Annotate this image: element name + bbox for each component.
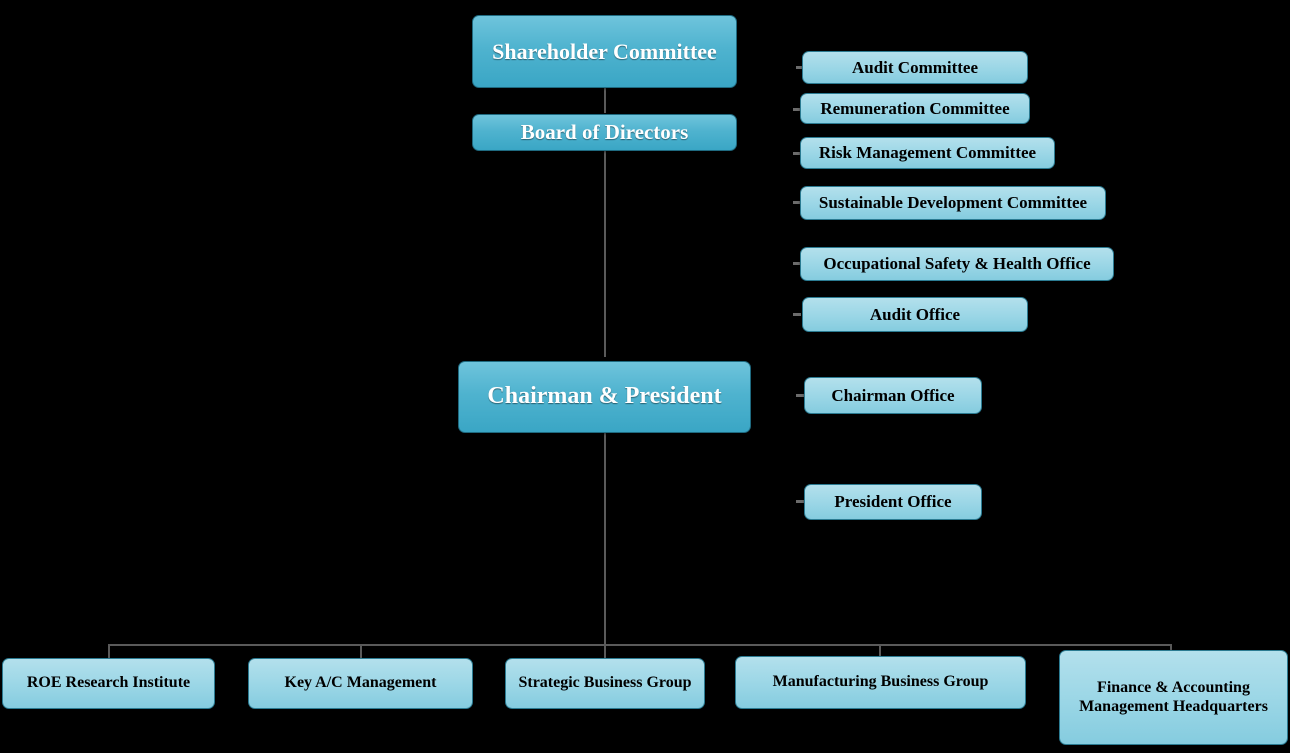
node-sustainable-development-committee[interactable]: Sustainable Development Committee — [800, 186, 1106, 220]
node-label: ROE Research Institute — [27, 674, 190, 692]
node-label: Risk Management Committee — [819, 143, 1036, 163]
node-label: Chairman Office — [831, 386, 954, 406]
node-label: Key A/C Management — [285, 674, 437, 692]
node-strategic-business-group[interactable]: Strategic Business Group — [505, 658, 705, 709]
node-risk-management-committee[interactable]: Risk Management Committee — [800, 137, 1055, 169]
connector-shareholder-to-board — [604, 87, 606, 113]
connector-bus-drop-strategic — [604, 644, 606, 658]
node-shareholder-committee[interactable]: Shareholder Committee — [472, 15, 737, 88]
node-president-office[interactable]: President Office — [804, 484, 982, 520]
node-chairman-president[interactable]: Chairman & President — [458, 361, 751, 433]
connector-stub-chairman-office — [796, 394, 804, 397]
node-audit-office[interactable]: Audit Office — [802, 297, 1028, 332]
connector-bus-drop-keyac — [360, 644, 362, 658]
connector-stub-president-office — [796, 500, 804, 503]
node-label: Shareholder Committee — [492, 39, 717, 64]
node-manufacturing-business-group[interactable]: Manufacturing Business Group — [735, 656, 1026, 709]
node-label: Chairman & President — [487, 383, 721, 411]
node-label: Strategic Business Group — [518, 674, 691, 692]
node-occupational-safety-health-office[interactable]: Occupational Safety & Health Office — [800, 247, 1114, 281]
connector-board-to-chairman — [604, 149, 606, 357]
connector-bottom-bus — [108, 644, 1172, 646]
node-label: Remuneration Committee — [820, 99, 1009, 119]
node-label: Audit Committee — [852, 58, 978, 78]
node-key-ac-management[interactable]: Key A/C Management — [248, 658, 473, 709]
connector-bus-drop-roe — [108, 644, 110, 658]
node-label: Finance & Accounting Management Headquar… — [1079, 679, 1268, 716]
node-roe-research-institute[interactable]: ROE Research Institute — [2, 658, 215, 709]
node-label: Manufacturing Business Group — [773, 673, 989, 691]
node-label: Board of Directors — [521, 120, 689, 144]
connector-chairman-to-bus — [604, 433, 606, 645]
org-chart-canvas: Shareholder Committee Board of Directors… — [0, 0, 1290, 753]
node-remuneration-committee[interactable]: Remuneration Committee — [800, 93, 1030, 124]
node-finance-accounting-headquarters[interactable]: Finance & Accounting Management Headquar… — [1059, 650, 1288, 745]
node-label: Occupational Safety & Health Office — [823, 254, 1090, 274]
node-board-of-directors[interactable]: Board of Directors — [472, 114, 737, 151]
node-label: Sustainable Development Committee — [819, 193, 1087, 213]
node-label: President Office — [834, 492, 951, 512]
node-chairman-office[interactable]: Chairman Office — [804, 377, 982, 414]
node-audit-committee[interactable]: Audit Committee — [802, 51, 1028, 84]
connector-stub-audit-office — [793, 313, 801, 316]
node-label: Audit Office — [870, 305, 960, 325]
